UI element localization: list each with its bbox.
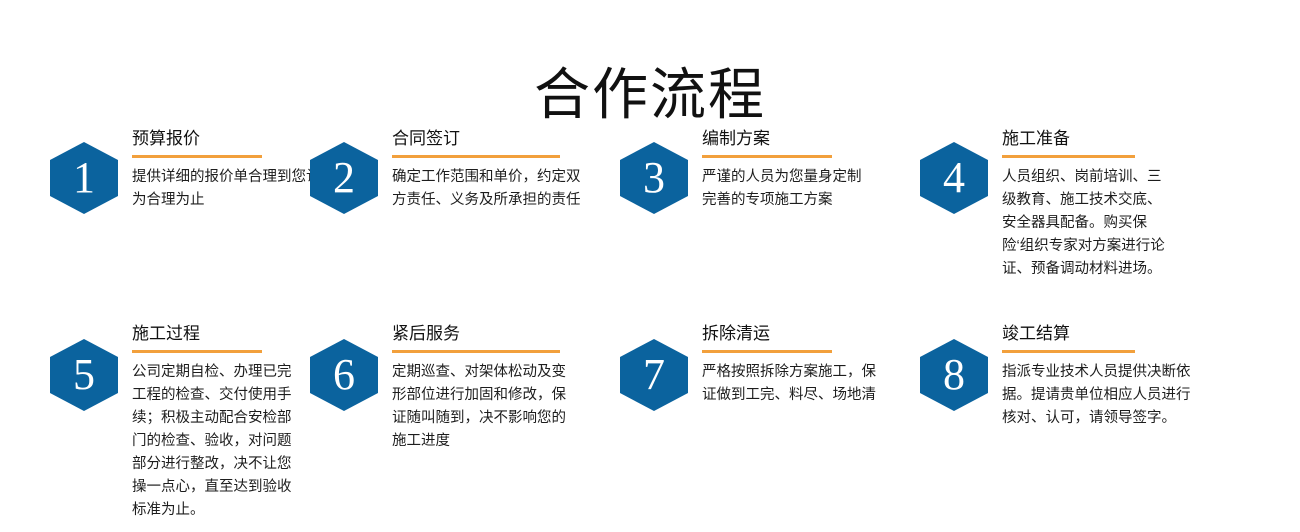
step-item-8[interactable]: 8 竣工结算 指派专业技术人员提供决断依据。提请贵单位相应人员进行核对、认可，请… — [910, 323, 1240, 430]
step-description-3: 严谨的人员为您量身定制完善的专项施工方案 — [702, 166, 862, 212]
step-title-5: 施工过程 — [132, 323, 305, 345]
step-divider-2 — [392, 155, 560, 158]
step-title-2: 合同签订 — [392, 128, 610, 150]
step-number-3: 3 — [643, 156, 665, 200]
step-number-8: 8 — [943, 353, 965, 397]
step-title-6: 紧后服务 — [392, 323, 610, 345]
step-content-2: 合同签订 确定工作范围和单价，约定双方责任、义务及所承担的责任 — [378, 128, 610, 212]
step-title-1: 预算报价 — [132, 128, 322, 150]
step-item-5[interactable]: 5 施工过程 公司定期自检、办理已完工程的检查、交付使用手续；积极主动配合安检部… — [0, 323, 305, 522]
step-content-3: 编制方案 严谨的人员为您量身定制完善的专项施工方案 — [688, 128, 910, 212]
step-title-4: 施工准备 — [1002, 128, 1240, 150]
step-item-2[interactable]: 2 合同签订 确定工作范围和单价，约定双方责任、义务及所承担的责任 — [305, 128, 610, 214]
hexagon-icon: 6 — [310, 339, 378, 411]
hexagon-icon: 3 — [620, 142, 688, 214]
step-description-8: 指派专业技术人员提供决断依据。提请贵单位相应人员进行核对、认可，请领导签字。 — [1002, 361, 1202, 430]
step-badge-4: 4 — [920, 142, 988, 214]
step-badge-6: 6 — [310, 339, 378, 411]
step-badge-3: 3 — [620, 142, 688, 214]
step-title-3: 编制方案 — [702, 128, 910, 150]
step-number-5: 5 — [73, 353, 95, 397]
step-badge-5: 5 — [50, 339, 118, 411]
step-badge-2: 2 — [310, 142, 378, 214]
step-divider-6 — [392, 350, 560, 353]
step-title-7: 拆除清运 — [702, 323, 910, 345]
hexagon-icon: 8 — [920, 339, 988, 411]
step-description-6: 定期巡查、对架体松动及变形部位进行加固和修改，保证随叫随到，决不影响您的施工进度 — [392, 361, 570, 453]
step-content-8: 竣工结算 指派专业技术人员提供决断依据。提请贵单位相应人员进行核对、认可，请领导… — [988, 323, 1240, 430]
hexagon-icon: 4 — [920, 142, 988, 214]
step-content-1: 预算报价 提供详细的报价单合理到您认为合理为止 — [118, 128, 322, 212]
step-item-4[interactable]: 4 施工准备 人员组织、岗前培训、三级教育、施工技术交底、安全器具配备。购买保险… — [910, 128, 1240, 281]
step-item-7[interactable]: 7 拆除清运 严格按照拆除方案施工，保证做到工完、料尽、场地清 — [610, 323, 910, 411]
step-divider-8 — [1002, 350, 1135, 353]
step-description-1: 提供详细的报价单合理到您认为合理为止 — [132, 166, 322, 212]
step-number-6: 6 — [333, 353, 355, 397]
step-item-6[interactable]: 6 紧后服务 定期巡查、对架体松动及变形部位进行加固和修改，保证随叫随到，决不影… — [305, 323, 610, 453]
step-description-2: 确定工作范围和单价，约定双方责任、义务及所承担的责任 — [392, 166, 588, 212]
step-divider-4 — [1002, 155, 1135, 158]
process-flow-page: 合作流程 1 预算报价 提供详细的报价单合理到您认为合理为止 2 — [0, 0, 1300, 532]
steps-row-bottom: 5 施工过程 公司定期自检、办理已完工程的检查、交付使用手续；积极主动配合安检部… — [0, 323, 1300, 522]
step-number-1: 1 — [73, 156, 95, 200]
step-item-3[interactable]: 3 编制方案 严谨的人员为您量身定制完善的专项施工方案 — [610, 128, 910, 214]
step-content-5: 施工过程 公司定期自检、办理已完工程的检查、交付使用手续；积极主动配合安检部门的… — [118, 323, 305, 522]
step-description-5: 公司定期自检、办理已完工程的检查、交付使用手续；积极主动配合安检部门的检查、验收… — [132, 361, 292, 522]
hexagon-icon: 7 — [620, 339, 688, 411]
step-badge-7: 7 — [620, 339, 688, 411]
step-description-7: 严格按照拆除方案施工，保证做到工完、料尽、场地清 — [702, 361, 880, 407]
step-divider-5 — [132, 350, 262, 353]
step-divider-3 — [702, 155, 832, 158]
step-item-1[interactable]: 1 预算报价 提供详细的报价单合理到您认为合理为止 — [0, 128, 305, 214]
step-content-4: 施工准备 人员组织、岗前培训、三级教育、施工技术交底、安全器具配备。购买保险‘组… — [988, 128, 1240, 281]
step-description-4: 人员组织、岗前培训、三级教育、施工技术交底、安全器具配备。购买保险‘组织专家对方… — [1002, 166, 1174, 281]
step-number-2: 2 — [333, 156, 355, 200]
hexagon-icon: 2 — [310, 142, 378, 214]
step-divider-7 — [702, 350, 832, 353]
steps-grid: 1 预算报价 提供详细的报价单合理到您认为合理为止 2 合同签订 — [0, 128, 1300, 522]
hexagon-icon: 1 — [50, 142, 118, 214]
hexagon-icon: 5 — [50, 339, 118, 411]
step-divider-1 — [132, 155, 262, 158]
step-number-7: 7 — [643, 353, 665, 397]
step-badge-8: 8 — [920, 339, 988, 411]
step-title-8: 竣工结算 — [1002, 323, 1240, 345]
step-content-6: 紧后服务 定期巡查、对架体松动及变形部位进行加固和修改，保证随叫随到，决不影响您… — [378, 323, 610, 453]
step-badge-1: 1 — [50, 142, 118, 214]
steps-row-top: 1 预算报价 提供详细的报价单合理到您认为合理为止 2 合同签订 — [0, 128, 1300, 281]
step-content-7: 拆除清运 严格按照拆除方案施工，保证做到工完、料尽、场地清 — [688, 323, 910, 407]
step-number-4: 4 — [943, 156, 965, 200]
page-title: 合作流程 — [0, 62, 1300, 128]
